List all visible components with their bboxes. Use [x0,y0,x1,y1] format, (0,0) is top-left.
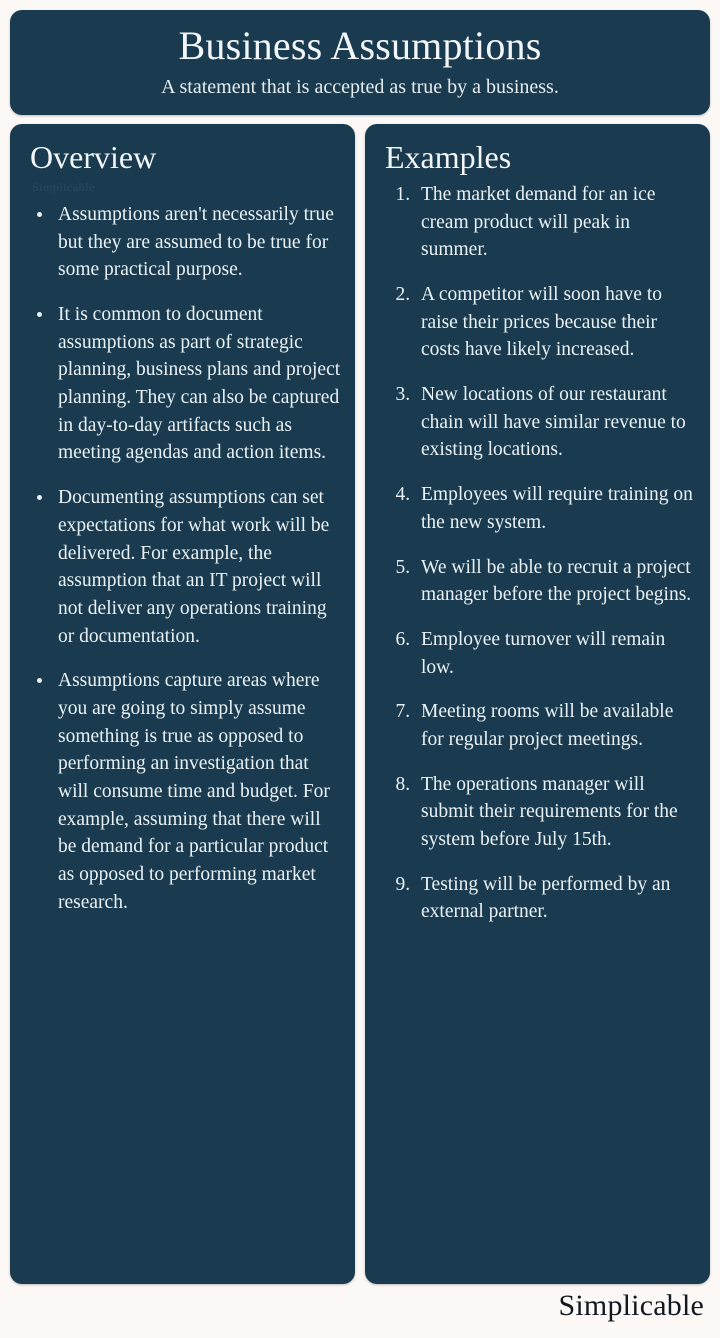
list-item: A competitor will soon have to raise the… [415,281,696,364]
overview-list: Assumptions aren't necessarily true but … [24,201,341,917]
overview-watermark: Simplicable [24,179,341,195]
page-title: Business Assumptions [30,24,690,69]
list-item: Assumptions capture areas where you are … [54,667,341,916]
header-card: Business Assumptions A statement that is… [10,10,710,115]
examples-list: The market demand for an ice cream produ… [379,181,696,926]
list-item: Employees will require training on the n… [415,481,696,536]
overview-card: Overview Simplicable Assumptions aren't … [10,124,355,1284]
list-item: The operations manager will submit their… [415,771,696,854]
list-item: New locations of our restaurant chain wi… [415,381,696,464]
footer: Simplicable [10,1284,710,1328]
overview-heading: Overview [24,140,341,175]
list-item: Documenting assumptions can set expectat… [54,484,341,650]
list-item: Testing will be performed by an external… [415,871,696,926]
list-item: We will be able to recruit a project man… [415,554,696,609]
page-subtitle: A statement that is accepted as true by … [30,75,690,99]
list-item: Employee turnover will remain low. [415,626,696,681]
list-item: Assumptions aren't necessarily true but … [54,201,341,284]
list-item: Meeting rooms will be available for regu… [415,698,696,753]
list-item: It is common to document assumptions as … [54,301,341,467]
columns-container: Overview Simplicable Assumptions aren't … [10,124,710,1284]
list-item: The market demand for an ice cream produ… [415,181,696,264]
brand-logo: Simplicable [558,1291,704,1321]
examples-card: Examples The market demand for an ice cr… [365,124,710,1284]
infographic-page: Business Assumptions A statement that is… [0,0,720,1338]
examples-heading: Examples [379,140,696,175]
